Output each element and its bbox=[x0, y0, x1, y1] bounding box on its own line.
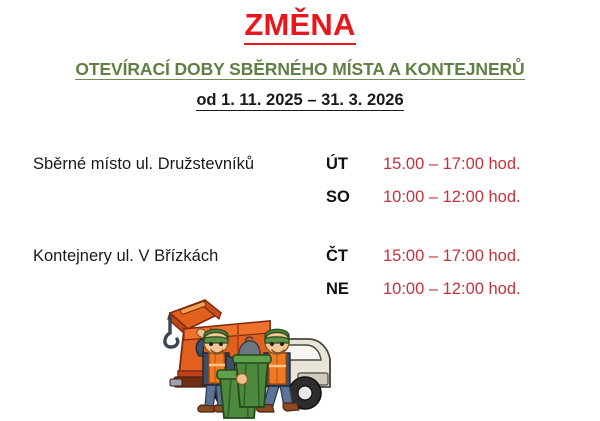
page-title: ZMĚNA bbox=[0, 9, 600, 45]
page-title-text: ZMĚNA bbox=[244, 9, 355, 45]
day-label: ČT bbox=[326, 247, 383, 266]
poster-root: ZMĚNA OTEVÍRACÍ DOBY SBĚRNÉHO MÍSTA A KO… bbox=[0, 0, 600, 421]
garbage-truck-illustration bbox=[158, 299, 370, 421]
day-label: NE bbox=[326, 280, 383, 299]
schedule-group: Sběrné místo ul. Družstevníků ÚT 15.00 –… bbox=[33, 155, 573, 221]
page-subtitle: OTEVÍRACÍ DOBY SBĚRNÉHO MÍSTA A KONTEJNE… bbox=[0, 60, 600, 80]
table-row: Sběrné místo ul. Družstevníků ÚT 15.00 –… bbox=[33, 155, 573, 188]
day-label: ÚT bbox=[326, 155, 383, 174]
hours-value: 10:00 – 12:00 hod. bbox=[383, 280, 521, 299]
location-label: Kontejnery ul. V Břízkách bbox=[33, 247, 326, 266]
table-row: SO 10:00 – 12:00 hod. bbox=[33, 188, 573, 221]
hours-value: 10:00 – 12:00 hod. bbox=[383, 188, 521, 207]
day-label: SO bbox=[326, 188, 383, 207]
validity-date-range-text: od 1. 11. 2025 – 31. 3. 2026 bbox=[196, 92, 403, 111]
hours-value: 15:00 – 17:00 hod. bbox=[383, 247, 521, 266]
page-subtitle-text: OTEVÍRACÍ DOBY SBĚRNÉHO MÍSTA A KONTEJNE… bbox=[75, 60, 524, 80]
table-row: Kontejnery ul. V Břízkách ČT 15:00 – 17:… bbox=[33, 247, 573, 280]
hours-value: 15.00 – 17:00 hod. bbox=[383, 155, 521, 174]
validity-date-range: od 1. 11. 2025 – 31. 3. 2026 bbox=[0, 92, 600, 111]
location-label: Sběrné místo ul. Družstevníků bbox=[33, 155, 326, 174]
